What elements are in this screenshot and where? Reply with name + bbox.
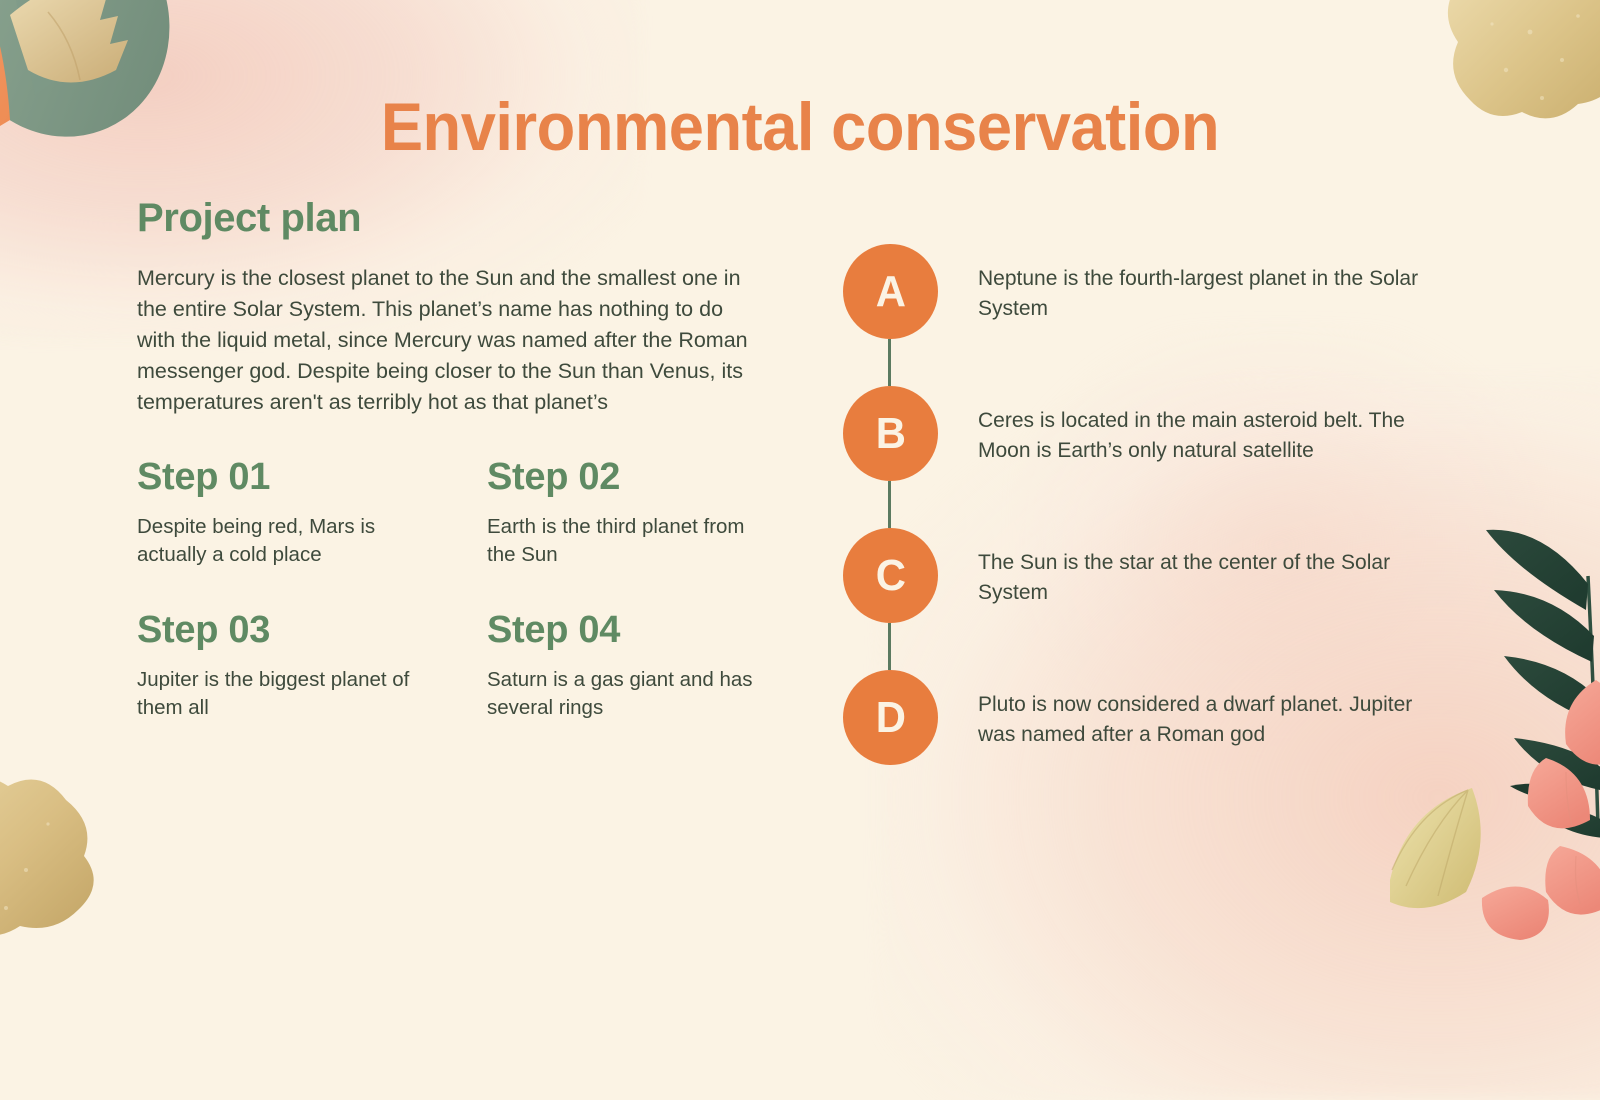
step-item: Step 04 Saturn is a gas giant and has se… bbox=[487, 609, 767, 722]
timeline-badge-letter: A bbox=[875, 270, 905, 314]
timeline-badge-b: B bbox=[843, 386, 938, 481]
timeline-list: A Neptune is the fourth-largest planet i… bbox=[843, 244, 1483, 765]
timeline-text: Pluto is now considered a dwarf planet. … bbox=[978, 690, 1448, 750]
step-title: Step 02 bbox=[487, 456, 767, 499]
timeline-text: Neptune is the fourth-largest planet in … bbox=[978, 264, 1448, 324]
project-plan-section: Project plan Mercury is the closest plan… bbox=[137, 196, 767, 722]
timeline-item: B Ceres is located in the main asteroid … bbox=[843, 386, 1483, 528]
timeline-badge-a: A bbox=[843, 244, 938, 339]
step-title: Step 01 bbox=[137, 456, 487, 499]
steps-grid: Step 01 Despite being red, Mars is actua… bbox=[137, 456, 767, 722]
timeline-connector bbox=[888, 623, 891, 670]
timeline-badge-d: D bbox=[843, 670, 938, 765]
timeline-badge-letter: B bbox=[875, 412, 905, 456]
step-item: Step 01 Despite being red, Mars is actua… bbox=[137, 456, 487, 569]
step-description: Earth is the third planet from the Sun bbox=[487, 513, 767, 569]
step-description: Jupiter is the biggest planet of them al… bbox=[137, 666, 447, 722]
step-title: Step 04 bbox=[487, 609, 767, 652]
scalloped-gold-leaf-bottom-left-icon bbox=[0, 760, 180, 970]
timeline-item: A Neptune is the fourth-largest planet i… bbox=[843, 244, 1483, 386]
timeline-text: The Sun is the star at the center of the… bbox=[978, 548, 1448, 608]
step-item: Step 02 Earth is the third planet from t… bbox=[487, 456, 767, 569]
step-description: Despite being red, Mars is actually a co… bbox=[137, 513, 447, 569]
timeline-text: Ceres is located in the main asteroid be… bbox=[978, 406, 1448, 466]
timeline-badge-c: C bbox=[843, 528, 938, 623]
timeline-badge-letter: D bbox=[875, 696, 905, 740]
section-heading: Project plan bbox=[137, 196, 767, 241]
page-title: Environmental conservation bbox=[56, 88, 1544, 166]
timeline-item: D Pluto is now considered a dwarf planet… bbox=[843, 670, 1483, 765]
step-title: Step 03 bbox=[137, 609, 487, 652]
step-item: Step 03 Jupiter is the biggest planet of… bbox=[137, 609, 487, 722]
timeline-connector bbox=[888, 339, 891, 386]
timeline-connector bbox=[888, 481, 891, 528]
intro-paragraph: Mercury is the closest planet to the Sun… bbox=[137, 263, 749, 418]
timeline-badge-letter: C bbox=[875, 554, 905, 598]
timeline-item: C The Sun is the star at the center of t… bbox=[843, 528, 1483, 670]
step-description: Saturn is a gas giant and has several ri… bbox=[487, 666, 767, 722]
